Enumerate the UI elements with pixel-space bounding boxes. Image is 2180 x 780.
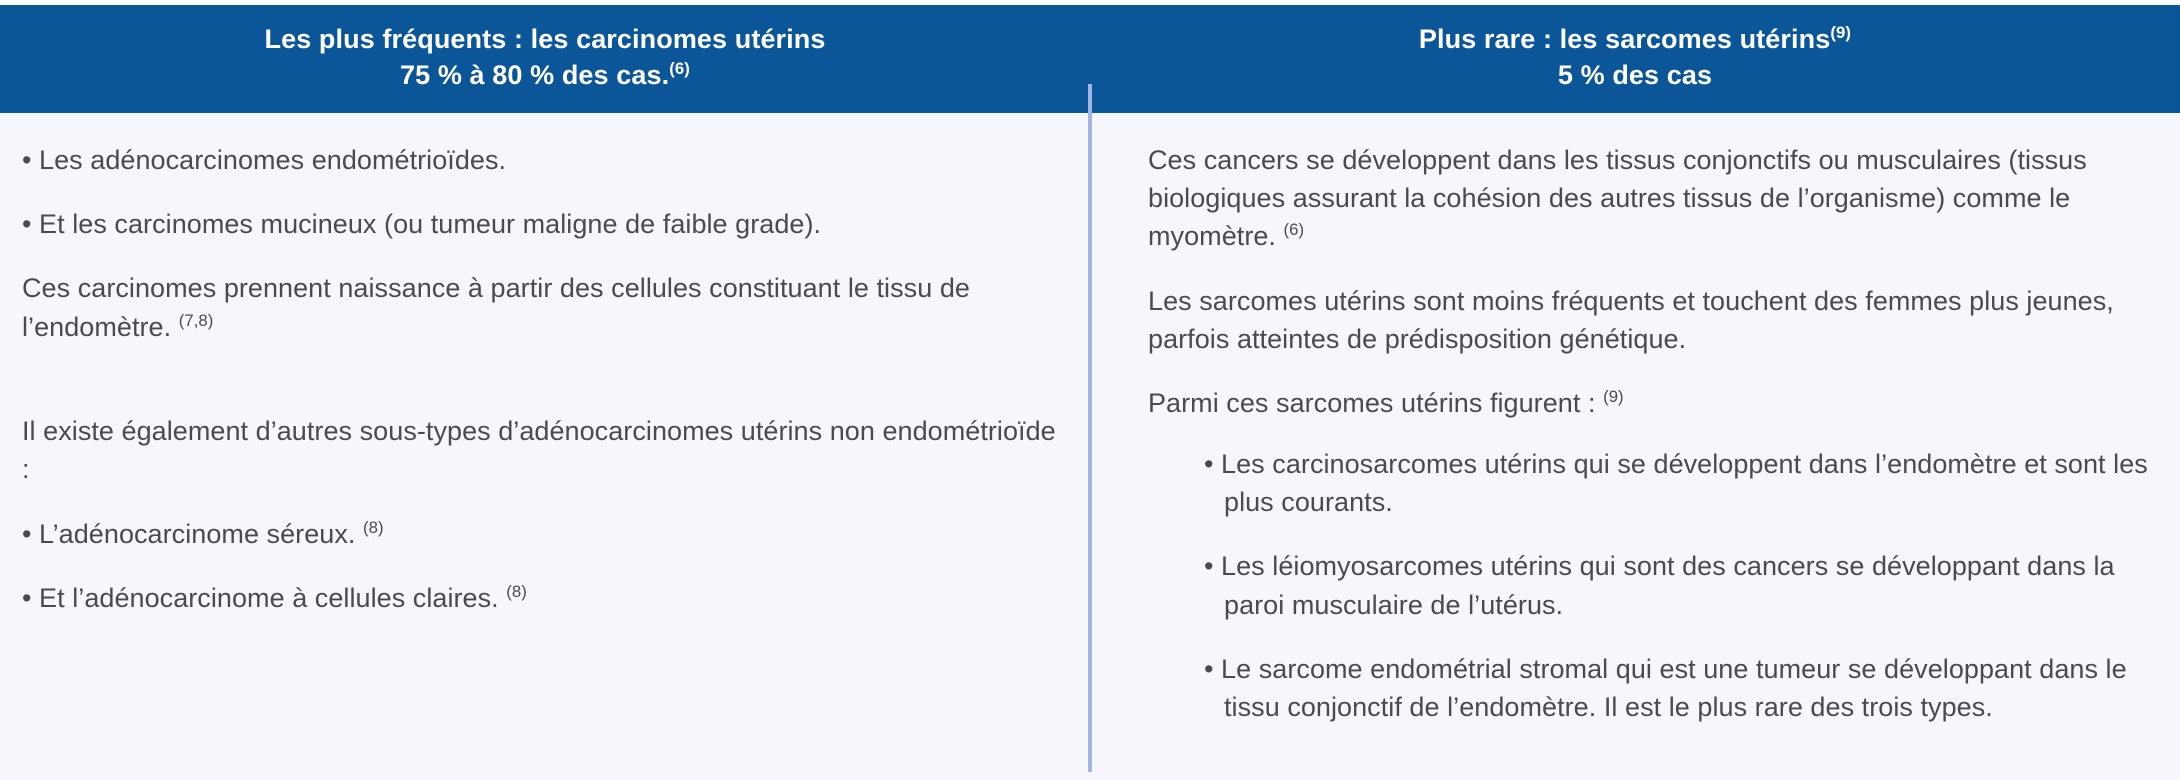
- reference-marker: (7,8): [179, 311, 214, 330]
- header-line-2-text: 75 % à 80 % des cas.: [400, 60, 669, 90]
- header-reference: (6): [669, 59, 690, 78]
- header-line-2: 75 % à 80 % des cas.(6): [40, 58, 1050, 94]
- list-item-text: • Le sarcome endométrial stromal qui est…: [1204, 654, 2127, 722]
- column-header-sarcomes-uterins: Plus rare : les sarcomes utérins(9) 5 % …: [1090, 5, 2180, 113]
- column-sarcomes-uterins: Plus rare : les sarcomes utérins(9) 5 % …: [1090, 0, 2180, 780]
- paragraph-text: Ces carcinomes prennent naissance à part…: [22, 273, 970, 341]
- list-item: • Les adénocarcinomes endométrioïdes.: [22, 141, 1056, 179]
- header-line-1-text: Plus rare : les sarcomes utérins: [1419, 24, 1830, 54]
- header-line-2: 5 % des cas: [1130, 58, 2140, 94]
- paragraph: Les sarcomes utérins sont moins fréquent…: [1148, 282, 2150, 359]
- reference-marker: (6): [1284, 220, 1305, 239]
- list-item: • Et les carcinomes mucineux (ou tumeur …: [22, 205, 1056, 243]
- list-item: • L’adénocarcinome séreux. (8): [22, 515, 1056, 553]
- paragraph: Il existe également d’autres sous-types …: [22, 412, 1056, 489]
- column-carcinomes-uterins: Les plus fréquents : les carcinomes utér…: [0, 0, 1090, 780]
- list-item-text: • Et les carcinomes mucineux (ou tumeur …: [22, 209, 821, 239]
- paragraph: Ces cancers se développent dans les tiss…: [1148, 141, 2150, 256]
- column-body-sarcomes-uterins: Ces cancers se développent dans les tiss…: [1090, 113, 2180, 780]
- header-line-1: Les plus fréquents : les carcinomes utér…: [40, 22, 1050, 58]
- reference-marker: (8): [506, 582, 527, 601]
- list-item-text: • Les carcinosarcomes utérins qui se dév…: [1204, 449, 2148, 517]
- reference-marker: (8): [363, 518, 384, 537]
- list-item: • Et l’adénocarcinome à cellules claires…: [22, 579, 1056, 617]
- list-item-text: • Les léiomyosarcomes utérins qui sont d…: [1204, 551, 2115, 619]
- paragraph-text: Parmi ces sarcomes utérins figurent :: [1148, 388, 1596, 418]
- paragraph: Ces carcinomes prennent naissance à part…: [22, 269, 1056, 346]
- list-item: • Les léiomyosarcomes utérins qui sont d…: [1204, 547, 2150, 624]
- column-divider: [1088, 84, 1092, 772]
- list-item-text: • Et l’adénocarcinome à cellules claires…: [22, 583, 499, 613]
- list-item: • Les carcinosarcomes utérins qui se dév…: [1204, 445, 2150, 522]
- paragraph: Parmi ces sarcomes utérins figurent : (9…: [1148, 384, 2150, 422]
- list-item-text: • Les adénocarcinomes endométrioïdes.: [22, 145, 506, 175]
- list-item-text: • L’adénocarcinome séreux.: [22, 519, 355, 549]
- reference-marker: (9): [1603, 387, 1624, 406]
- paragraph-text: Il existe également d’autres sous-types …: [22, 416, 1056, 484]
- column-header-carcinomes-uterins: Les plus fréquents : les carcinomes utér…: [0, 5, 1090, 113]
- column-body-carcinomes-uterins: • Les adénocarcinomes endométrioïdes. • …: [0, 113, 1090, 780]
- header-reference: (9): [1830, 23, 1851, 42]
- uterine-cancer-comparison-table: Les plus fréquents : les carcinomes utér…: [0, 0, 2180, 780]
- list-item: • Le sarcome endométrial stromal qui est…: [1204, 650, 2150, 727]
- paragraph-text: Les sarcomes utérins sont moins fréquent…: [1148, 286, 2114, 354]
- header-line-1: Plus rare : les sarcomes utérins(9): [1130, 22, 2140, 58]
